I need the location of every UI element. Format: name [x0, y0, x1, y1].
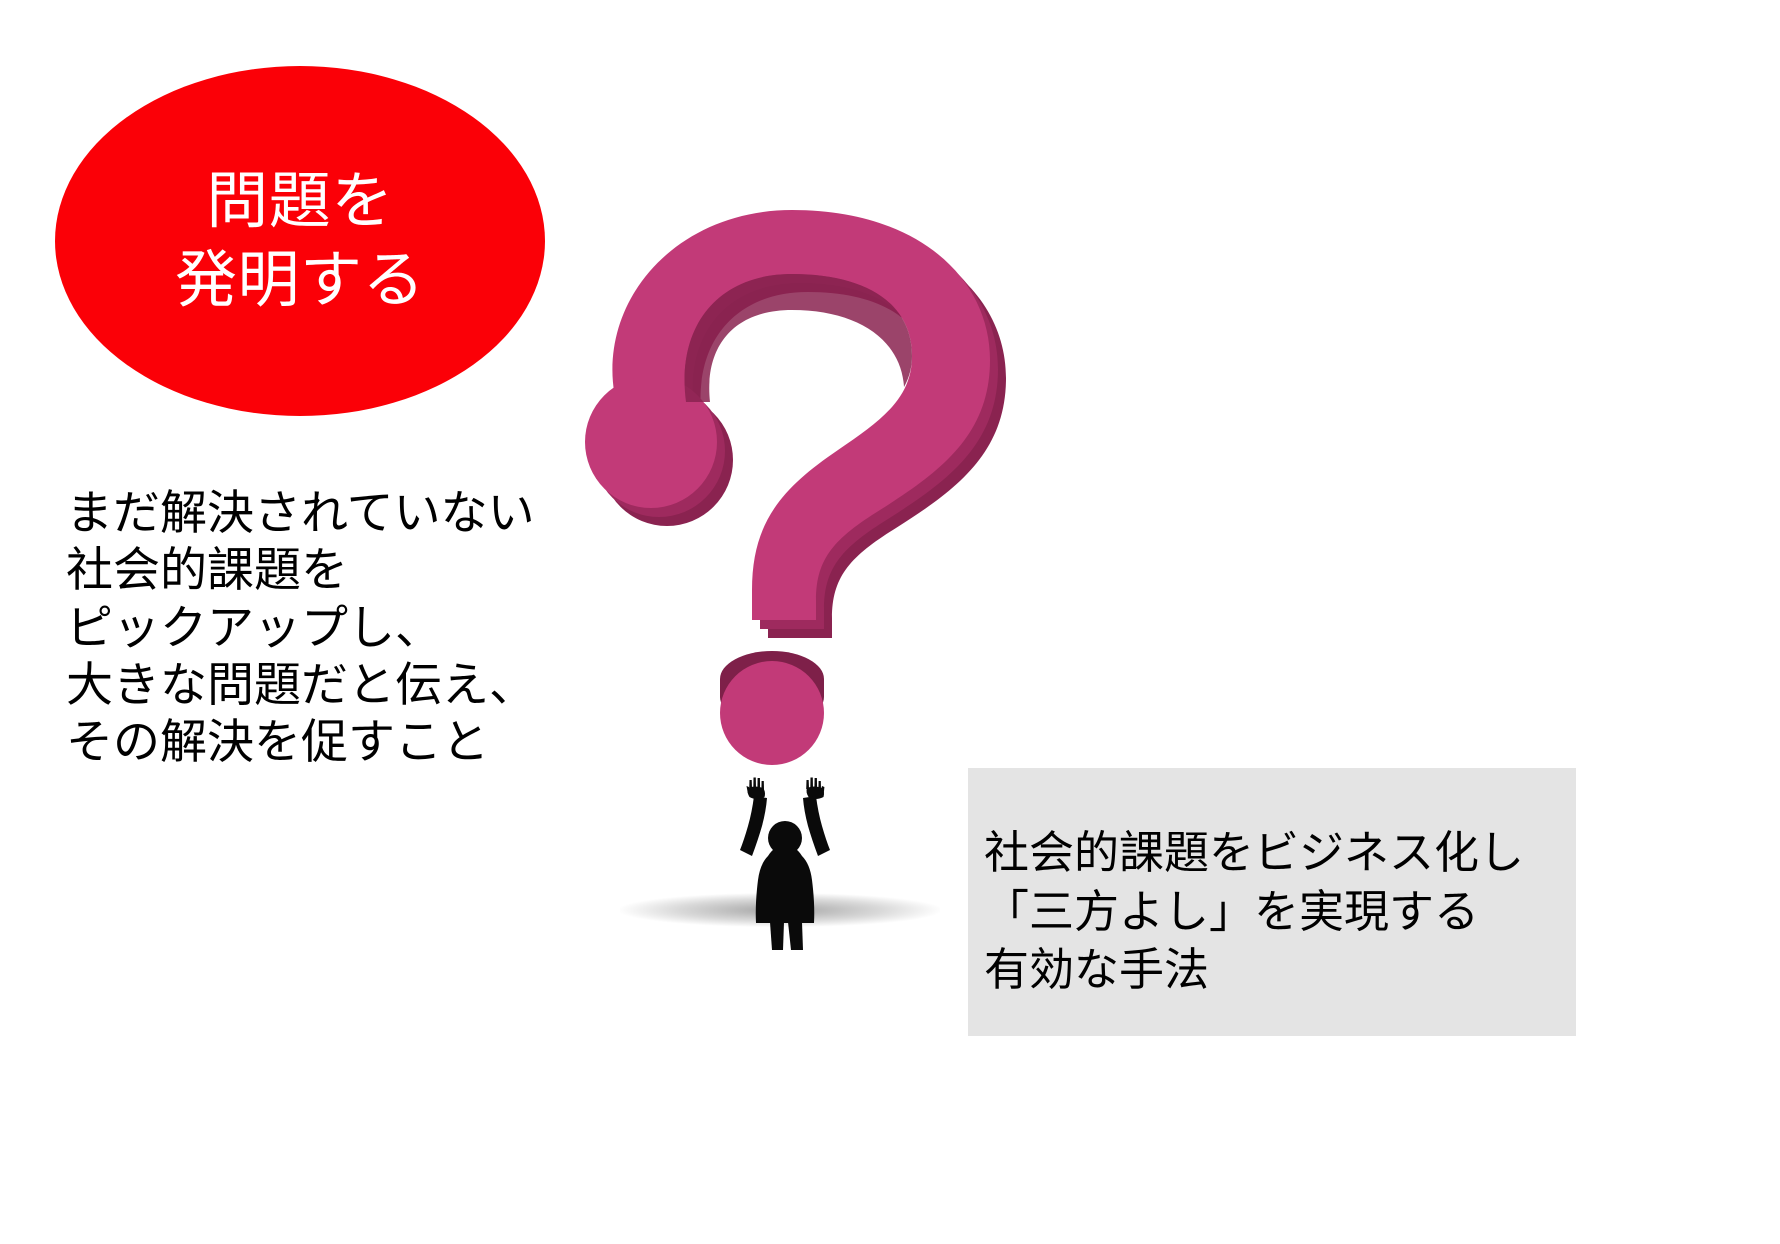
grey-callout-line-1: 社会的課題をビジネス化し	[984, 824, 1576, 883]
person-arms-raised-icon	[730, 770, 840, 950]
body-text-line-5: その解決を促すこと	[66, 713, 586, 770]
body-text-line-1: まだ解決されていない	[66, 484, 586, 541]
body-text-block: まだ解決されていない 社会的課題を ピックアップし、 大きな問題だと伝え、 その…	[66, 484, 586, 771]
question-mark-3d-icon	[520, 150, 1060, 640]
question-mark-dot-icon	[712, 645, 832, 770]
body-text-line-2: 社会的課題を	[66, 541, 586, 598]
red-callout-line-1: 問題を	[206, 162, 394, 241]
grey-callout-box: 社会的課題をビジネス化し 「三方よし」を実現する 有効な手法	[968, 768, 1576, 1036]
slide-canvas: 問題を 発明する まだ解決されていない 社会的課題を ピックアップし、 大きな問…	[0, 0, 1780, 1244]
red-callout-line-2: 発明する	[175, 241, 425, 320]
red-ellipse-callout: 問題を 発明する	[55, 66, 545, 416]
grey-callout-line-2: 「三方よし」を実現する	[984, 883, 1576, 942]
person-silhouette-svg	[730, 770, 840, 950]
grey-callout-line-3: 有効な手法	[984, 941, 1576, 1000]
body-text-line-3: ピックアップし、	[66, 599, 586, 656]
question-mark-dot-svg	[712, 645, 832, 770]
question-mark-svg	[520, 150, 1060, 640]
body-text-line-4: 大きな問題だと伝え、	[66, 656, 586, 713]
